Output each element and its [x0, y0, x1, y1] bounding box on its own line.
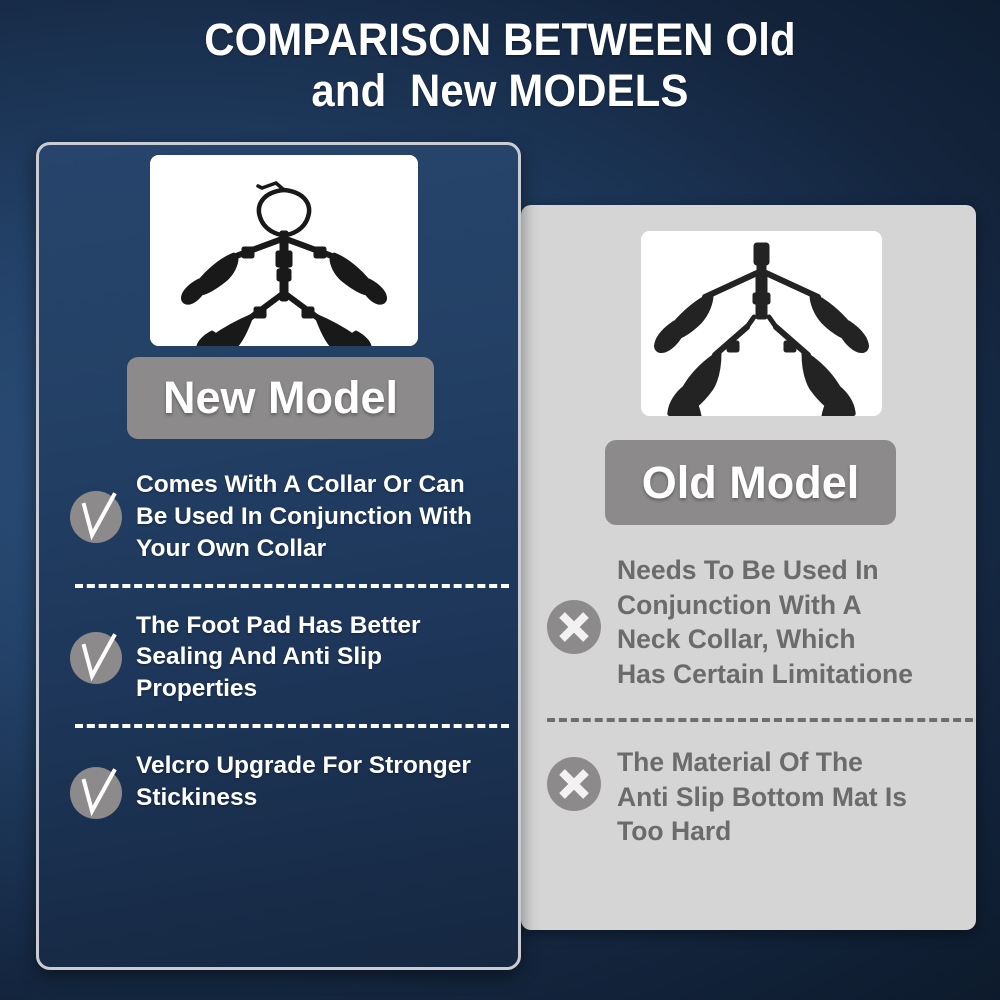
- list-item: The Material Of The Anti Slip Bottom Mat…: [545, 744, 975, 849]
- page-title: COMPARISON BETWEEN Old and New MODELS: [35, 14, 965, 117]
- old-model-drawback-list: Needs To Be Used In Conjunction With A N…: [545, 552, 975, 849]
- list-item-text: Comes With A Collar Or Can Be Used In Co…: [136, 468, 472, 565]
- list-divider: [547, 718, 973, 722]
- list-item: Needs To Be Used In Conjunction With A N…: [545, 552, 975, 692]
- old-model-badge: Old Model: [605, 440, 896, 525]
- list-item: The Foot Pad Has Better Sealing And Anti…: [68, 609, 518, 706]
- title-line-1: COMPARISON BETWEEN Old: [35, 14, 965, 65]
- cross-icon: [545, 598, 603, 656]
- list-item: Comes With A Collar Or Can Be Used In Co…: [68, 468, 518, 565]
- check-icon: [68, 489, 124, 545]
- new-model-badge-label: New Model: [163, 372, 398, 424]
- list-item-text: The Material Of The Anti Slip Bottom Mat…: [617, 744, 907, 849]
- new-model-feature-list: Comes With A Collar Or Can Be Used In Co…: [68, 468, 518, 821]
- check-icon: [68, 630, 124, 686]
- list-divider: [75, 584, 509, 588]
- list-item: Velcro Upgrade For Stronger Stickiness: [68, 749, 518, 821]
- list-item-text: The Foot Pad Has Better Sealing And Anti…: [136, 609, 421, 706]
- check-icon: [68, 765, 124, 821]
- title-line-2: and New MODELS: [35, 65, 965, 116]
- new-model-product-image: [150, 155, 418, 346]
- infographic-canvas: COMPARISON BETWEEN Old and New MODELS: [0, 0, 1000, 1000]
- cross-icon: [545, 755, 603, 813]
- old-model-product-image: [641, 231, 882, 416]
- new-model-badge: New Model: [127, 357, 434, 439]
- list-item-text: Velcro Upgrade For Stronger Stickiness: [136, 749, 471, 814]
- list-divider: [75, 724, 509, 728]
- old-model-badge-label: Old Model: [642, 457, 860, 509]
- list-item-text: Needs To Be Used In Conjunction With A N…: [617, 552, 913, 692]
